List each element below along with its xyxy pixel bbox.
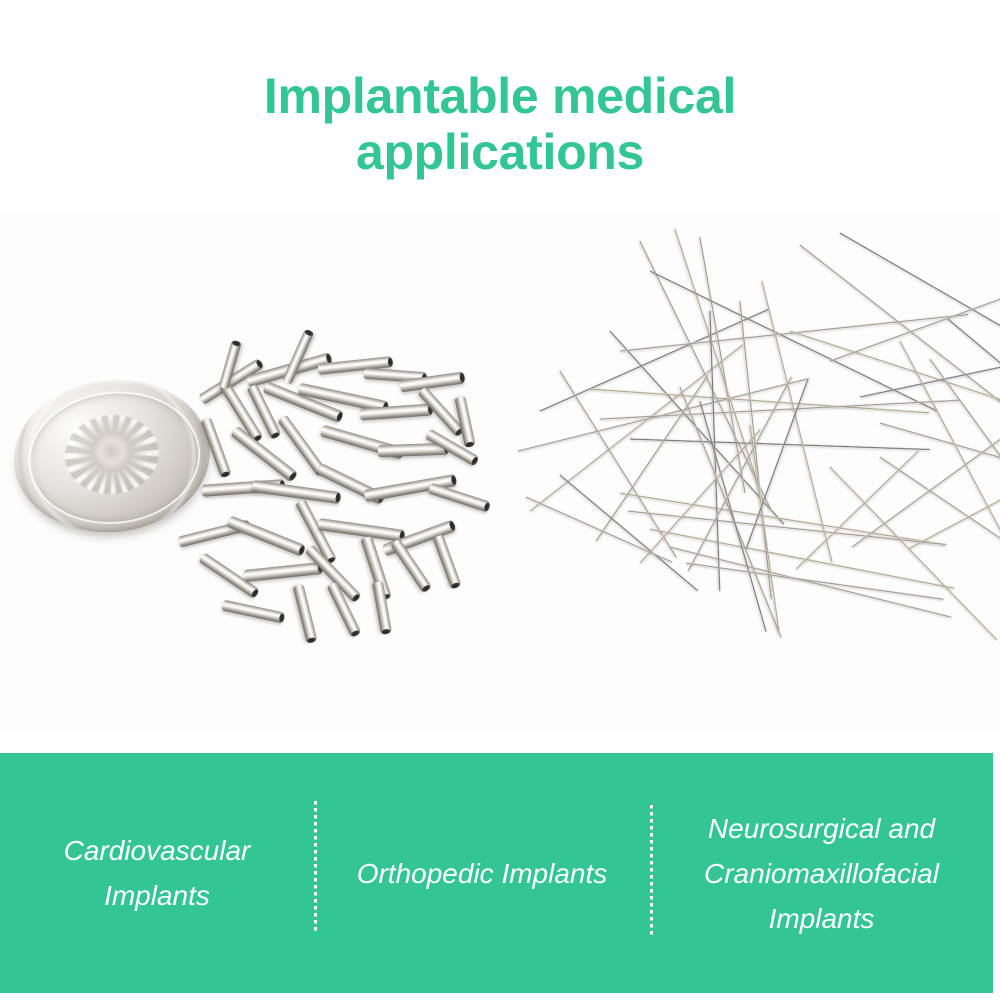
medical-wire (686, 562, 944, 600)
product-gallery (0, 210, 1000, 730)
medical-wire (908, 482, 1000, 549)
capillary-tube (433, 534, 462, 589)
medical-wire (630, 438, 930, 450)
category-divider (314, 801, 317, 934)
coin-scale-reference (7, 370, 218, 542)
category-list: Cardiovascular Implants Orthopedic Impla… (0, 753, 993, 993)
capillary-tube (428, 483, 490, 513)
capillary-tube (222, 600, 285, 624)
page-title: Implantable medical applications (0, 68, 1000, 180)
category-item-orthopedic[interactable]: Orthopedic Implants (314, 851, 650, 896)
promo-banner: Implantable medical applications (0, 0, 1000, 1000)
capillary-tube (227, 515, 306, 556)
capillary-tube (252, 480, 341, 504)
medical-wire (670, 546, 952, 618)
gallery-image-capillary-tubes (0, 210, 500, 730)
gallery-image-fine-wires (500, 210, 1000, 730)
coin-legend-ring (7, 370, 218, 542)
category-divider (650, 805, 653, 938)
category-item-neurosurgical[interactable]: Neurosurgical and Craniomaxillofacial Im… (650, 806, 993, 941)
capillary-tube (244, 562, 323, 582)
medical-wire (829, 466, 997, 640)
medical-wire (674, 229, 766, 505)
capillary-tube (293, 584, 318, 643)
category-band: Cardiovascular Implants Orthopedic Impla… (0, 753, 993, 993)
category-item-cardiovascular[interactable]: Cardiovascular Implants (0, 828, 314, 918)
